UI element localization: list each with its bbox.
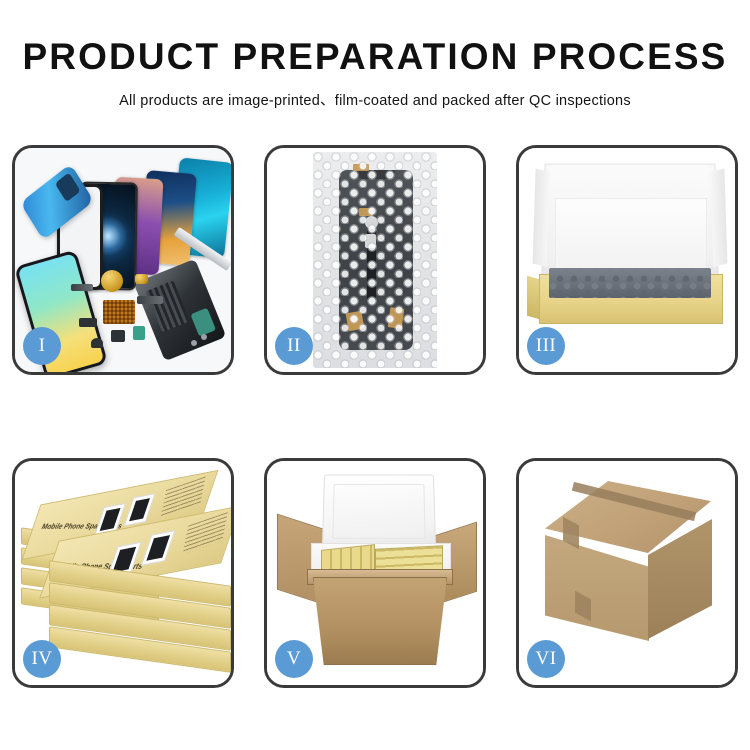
bubble-wrapped-screen-image: II (267, 148, 483, 372)
open-yellow-box-image: III (519, 148, 735, 372)
component-speaker (91, 338, 103, 348)
bubble-wrap-texture (313, 152, 437, 368)
component-screw-b (201, 334, 207, 340)
page-header: PRODUCT PREPARATION PROCESS All products… (0, 0, 750, 110)
component-screw-a (191, 340, 197, 346)
component-camera-module (133, 326, 145, 340)
step-badge-3: III (527, 327, 565, 365)
component-gold-coil (101, 270, 123, 292)
box-spec-lines-rear (161, 477, 206, 517)
bubble-wrap-bag (313, 152, 437, 368)
bubble-wrap-filling (549, 268, 711, 298)
process-step-panel-5[interactable]: V (264, 458, 486, 688)
step-badge-6: VI (527, 640, 565, 678)
foam-lid (322, 475, 436, 549)
component-ic-chip-b (111, 330, 125, 342)
component-mesh-grid (103, 300, 135, 324)
foam-sheet (555, 198, 707, 274)
step-badge-1: I (23, 327, 61, 365)
stacked-spare-part-boxes-image: Mobile Phone Spare Parts Mobile Phone Sp… (15, 461, 231, 685)
component-ic-chip-a (79, 318, 97, 327)
process-step-panel-3[interactable]: III (516, 145, 738, 375)
component-gold-contact (135, 274, 148, 284)
box-window-front-b (141, 530, 176, 566)
component-flex-cable (137, 296, 163, 304)
carton-with-foam-image: V (267, 461, 483, 685)
phone-parts-overview-image: I (15, 148, 231, 372)
step-badge-5: V (275, 640, 313, 678)
process-step-panel-4[interactable]: Mobile Phone Spare Parts Mobile Phone Sp… (12, 458, 234, 688)
box-window-rear-b (124, 493, 156, 526)
sealed-shipping-carton-image: VI (519, 461, 735, 685)
process-step-panel-6[interactable]: VI (516, 458, 738, 688)
process-step-panel-1[interactable]: I (12, 145, 234, 375)
process-step-panel-2[interactable]: II (264, 145, 486, 375)
page-subtitle: All products are image-printed、film-coat… (0, 89, 750, 110)
component-connector-strip (71, 284, 93, 291)
box-spec-lines-front (182, 512, 227, 554)
process-step-grid: I II (12, 145, 738, 688)
step-badge-2: II (275, 327, 313, 365)
page-title: PRODUCT PREPARATION PROCESS (0, 38, 750, 77)
step-badge-4: IV (23, 640, 61, 678)
carton-body (313, 577, 447, 665)
